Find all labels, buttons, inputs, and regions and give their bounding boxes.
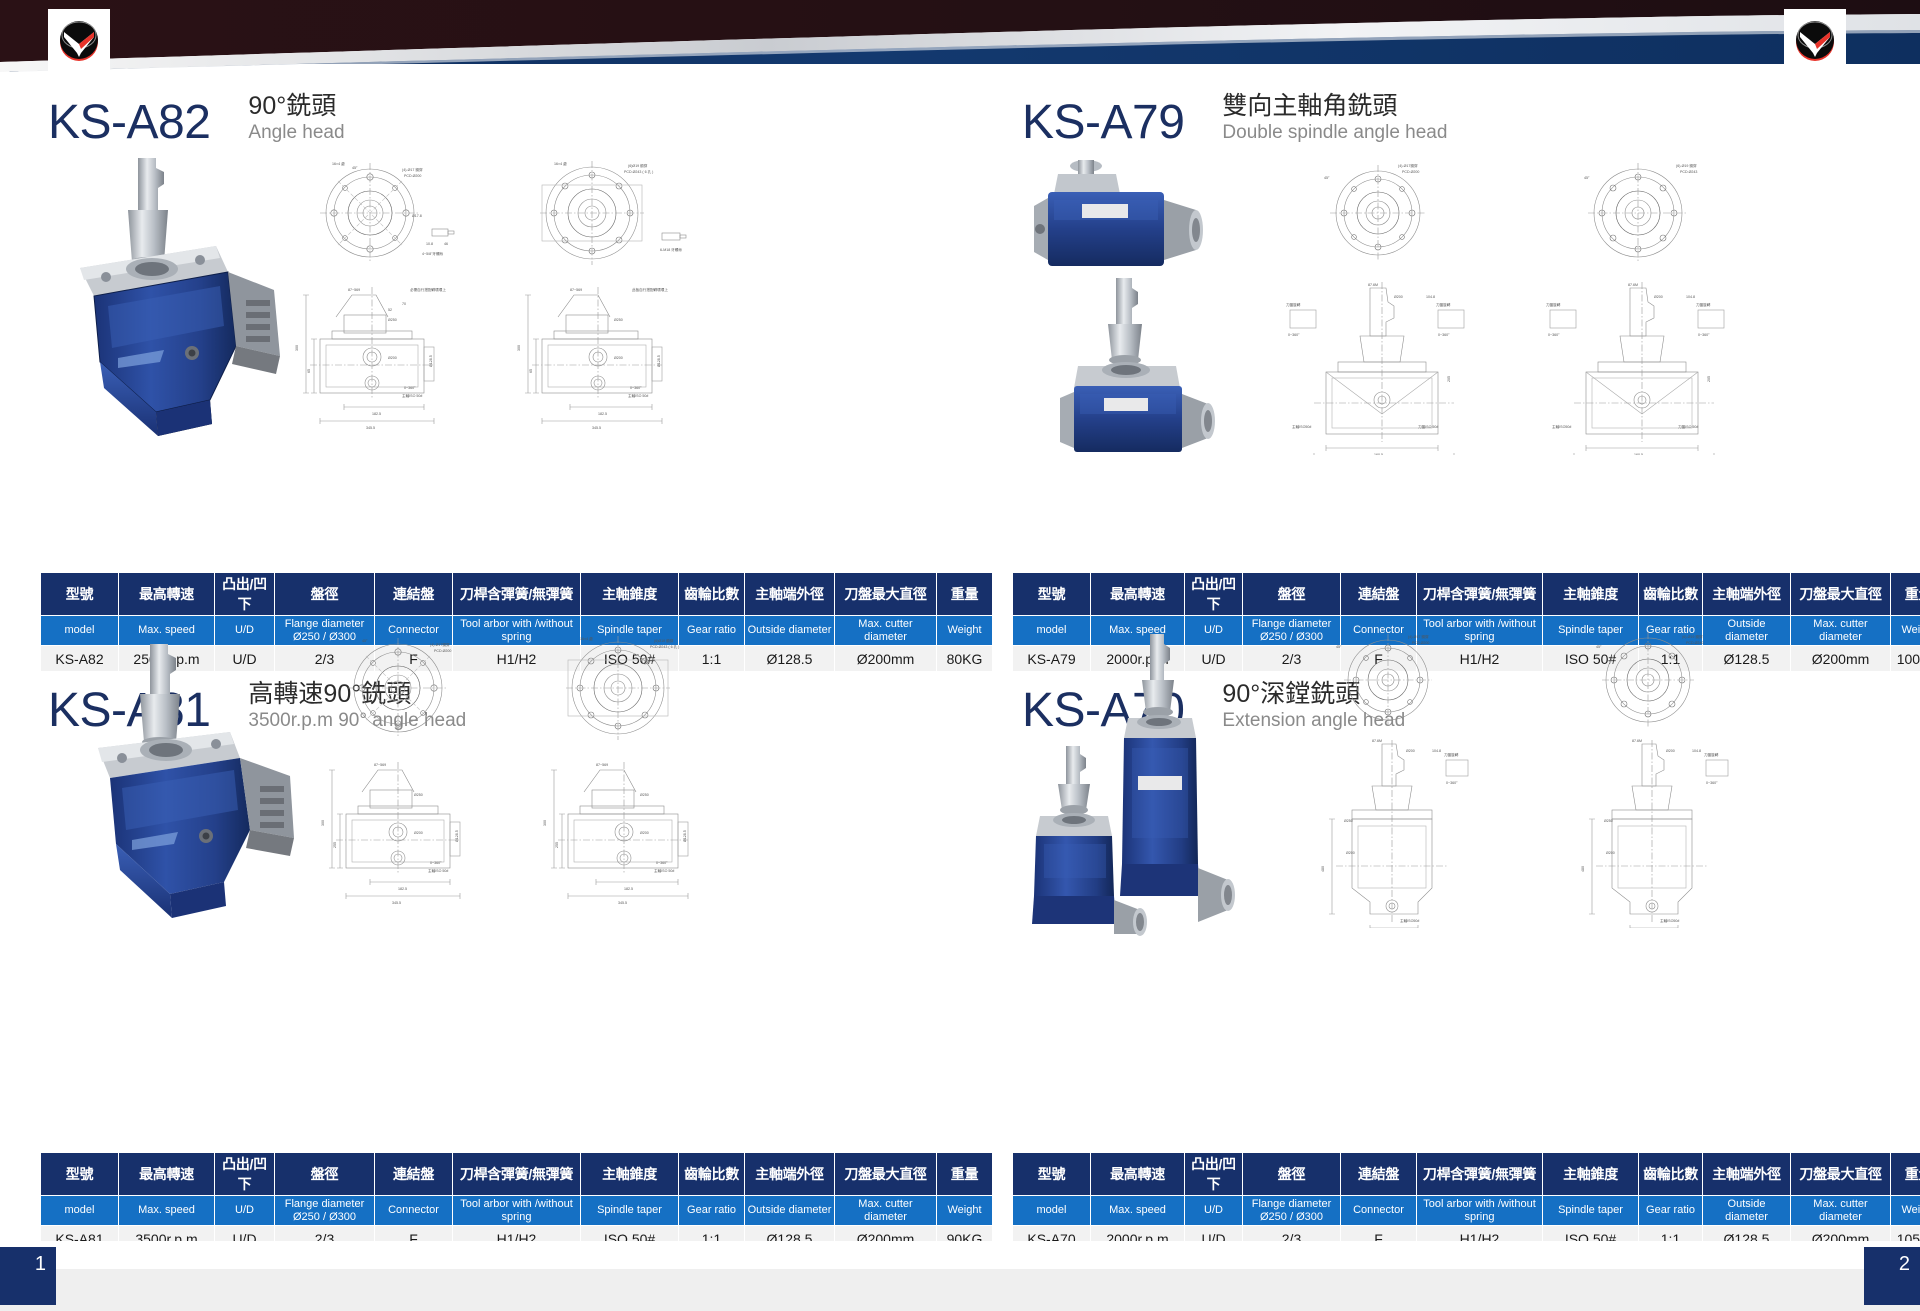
product-photo-ks-a81 — [78, 630, 308, 930]
svg-text:此板自行搭配轉環環上: 此板自行搭配轉環環上 — [632, 287, 668, 292]
svg-text:16×4 處: 16×4 處 — [554, 161, 567, 166]
svg-text:6-M18 牙螺絲: 6-M18 牙螺絲 — [660, 247, 682, 252]
th-cn-connector: 連結盤 — [1341, 1153, 1417, 1196]
th-cn-gear-ratio: 齒輪比數 — [679, 1153, 745, 1196]
svg-text:主軸ISO 50#: 主軸ISO 50# — [628, 393, 648, 398]
svg-text:87.6M: 87.6M — [1632, 739, 1642, 743]
th-en-flange-diameter: Flange diameter Ø250 / Ø300 — [1243, 1196, 1341, 1226]
technical-drawing-ks-a79: (4)-Ø17鑽穿 PCD.Ø200 45° (6)-Ø19 鑽穿 PCD.Ø2… — [1268, 155, 1913, 455]
th-en-model: model — [1013, 1196, 1091, 1226]
product-block-ks-a79: KS-A79 雙向主軸角銑頭 Double spindle angle head — [1022, 92, 1902, 147]
th-cn-max-speed: 最高轉速 — [1091, 573, 1185, 616]
th-en-connector: Connector — [375, 1196, 453, 1226]
table-header-row-cn: 型號 最高轉速 凸出/凹下 盤徑 連結盤 刀桿含彈簧/無彈簧 主軸錐度 齒輪比數… — [41, 1153, 993, 1196]
svg-text:104.8: 104.8 — [1432, 749, 1441, 753]
svg-text:65: 65 — [307, 369, 311, 373]
th-cn-outside-diameter: 主軸端外徑 — [1703, 573, 1791, 616]
th-cn-ud: 凸出/凹下 — [215, 1153, 275, 1196]
th-cn-flange-diameter: 盤徑 — [1243, 573, 1341, 616]
svg-text:45°: 45° — [1584, 176, 1590, 180]
technical-drawing-ks-a70: (4)-Ø17 鑽穿 PCD.Ø200 45° (6)-Ø19 鑽穿 PCD.Ø… — [1278, 628, 1918, 928]
svg-text:Ø200: Ø200 — [640, 831, 649, 835]
th-cn-outside-diameter: 主軸端外徑 — [745, 1153, 835, 1196]
th-cn-spindle-taper: 主軸錐度 — [581, 573, 679, 616]
svg-text:205: 205 — [1447, 376, 1451, 382]
svg-text:0~360°: 0~360° — [656, 861, 668, 865]
svg-text:87.6M: 87.6M — [1368, 283, 1378, 287]
svg-text:Ø200: Ø200 — [388, 356, 397, 360]
svg-text:0~360°: 0~360° — [630, 386, 642, 390]
svg-text:205: 205 — [1707, 376, 1711, 382]
svg-text:Ø250: Ø250 — [414, 793, 423, 797]
th-en-max-cutter-diameter: Max. cutter diameter — [1791, 1196, 1891, 1226]
product-title-en: Angle head — [248, 122, 344, 145]
svg-text:刀盤旋轉: 刀盤旋轉 — [1436, 302, 1451, 307]
spec-table-ks-a81: 型號 最高轉速 凸出/凹下 盤徑 連結盤 刀桿含彈簧/無彈簧 主軸錐度 齒輪比數… — [40, 1152, 993, 1252]
th-cn-model: 型號 — [41, 1153, 119, 1196]
th-cn-gear-ratio: 齒輪比數 — [679, 573, 745, 616]
svg-text:Ø200: Ø200 — [414, 831, 423, 835]
svg-text:(4)-Ø17 鑽穿: (4)-Ø17 鑽穿 — [1408, 634, 1429, 639]
th-cn-ud: 凸出/凹下 — [215, 573, 275, 616]
svg-text:65: 65 — [529, 369, 533, 373]
svg-text:(6)Ø19 鑽穿: (6)Ø19 鑽穿 — [654, 638, 674, 643]
svg-text:刀盤旋轉: 刀盤旋轉 — [1286, 302, 1301, 307]
svg-text:255: 255 — [333, 842, 337, 848]
svg-text:104.8: 104.8 — [1426, 295, 1435, 299]
technical-drawing-ks-a82: 16×4 處 (4)-Ø17 鑽穿 PCD.Ø200 45° 10.8 46 4… — [292, 155, 742, 455]
svg-text:0~360°: 0~360° — [1446, 781, 1458, 785]
svg-text:182.5: 182.5 — [624, 887, 633, 891]
svg-text:87.6M: 87.6M — [1628, 283, 1638, 287]
table-header-row-cn: 型號 最高轉速 凸出/凹下 盤徑 連結盤 刀桿含彈簧/無彈簧 主軸錐度 齒輪比數… — [1013, 573, 1920, 616]
th-cn-tool-arbor: 刀桿含彈簧/無彈簧 — [453, 573, 581, 616]
th-cn-ud: 凸出/凹下 — [1185, 573, 1243, 616]
svg-text:345.5: 345.5 — [618, 901, 627, 905]
th-cn-connector: 連結盤 — [1341, 573, 1417, 616]
th-cn-max-cutter-diameter: 刀盤最大直徑 — [1791, 573, 1891, 616]
svg-text:10.8: 10.8 — [426, 242, 433, 246]
th-en-max-cutter-diameter: Max. cutter diameter — [835, 616, 937, 646]
svg-text:Ø200: Ø200 — [1666, 749, 1675, 753]
svg-text:0~360°: 0~360° — [430, 861, 442, 865]
catalog-page: KS-A82 90°銑頭 Angle head — [0, 0, 1920, 1311]
th-en-tool-arbor: Tool arbor with /without spring — [453, 1196, 581, 1226]
svg-text:Ø128.5: Ø128.5 — [455, 830, 459, 842]
th-cn-gear-ratio: 齒輪比數 — [1639, 1153, 1703, 1196]
svg-text:Ø250: Ø250 — [640, 793, 649, 797]
svg-text:Ø250: Ø250 — [1604, 819, 1613, 823]
product-title-cn: 90°銑頭 — [248, 92, 344, 121]
th-en-max-speed: Max. speed — [1091, 1196, 1185, 1226]
svg-text:104.8: 104.8 — [1686, 295, 1695, 299]
table-header-row-cn: 型號 最高轉速 凸出/凹下 盤徑 連結盤 刀桿含彈簧/無彈簧 主軸錐度 齒輪比數… — [1013, 1153, 1920, 1196]
svg-text:PCD.Ø243 ( 6 孔 ): PCD.Ø243 ( 6 孔 ) — [624, 169, 653, 174]
product-photo-ks-a70 — [1020, 628, 1260, 938]
svg-text:160.5: 160.5 — [1374, 453, 1383, 455]
footer-white-gap — [0, 1241, 1920, 1269]
svg-text:Ø128.5: Ø128.5 — [657, 355, 661, 367]
th-en-spindle-taper: Spindle taper — [1543, 1196, 1639, 1226]
th-en-gear-ratio: Gear ratio — [1639, 1196, 1703, 1226]
th-cn-spindle-taper: 主軸錐度 — [1543, 1153, 1639, 1196]
svg-text:300: 300 — [517, 345, 521, 351]
svg-text:0~360°: 0~360° — [404, 386, 416, 390]
company-logo — [1784, 9, 1846, 71]
svg-text:0~360°: 0~360° — [1548, 333, 1560, 337]
table-header-row-en: model Max. speed U/D Flange diameter Ø25… — [41, 1196, 993, 1226]
table-header-row-cn: 型號 最高轉速 凸出/凹下 盤徑 連結盤 刀桿含彈簧/無彈簧 主軸錐度 齒輪比數… — [41, 573, 993, 616]
th-cn-flange-diameter: 盤徑 — [275, 1153, 375, 1196]
th-cn-tool-arbor: 刀桿含彈簧/無彈簧 — [453, 1153, 581, 1196]
svg-text:52: 52 — [388, 308, 392, 312]
th-en-gear-ratio: Gear ratio — [679, 1196, 745, 1226]
th-cn-outside-diameter: 主軸端外徑 — [1703, 1153, 1791, 1196]
svg-text:Ø200: Ø200 — [1606, 851, 1615, 855]
page-number-left: 1 — [0, 1247, 56, 1305]
svg-text:主軸ISO 50#: 主軸ISO 50# — [428, 868, 448, 873]
th-cn-tool-arbor: 刀桿含彈簧/無彈簧 — [1417, 1153, 1543, 1196]
svg-text:Ø128.5: Ø128.5 — [429, 355, 433, 367]
svg-text:87~569: 87~569 — [374, 763, 386, 767]
th-cn-tool-arbor: 刀桿含彈簧/無彈簧 — [1417, 573, 1543, 616]
logo-icon — [1788, 13, 1842, 67]
cell-max-cutter-diameter: Ø200mm — [835, 646, 937, 672]
svg-text:主軸ISO50#: 主軸ISO50# — [1660, 918, 1679, 923]
th-en-connector: Connector — [1341, 1196, 1417, 1226]
svg-text:16×4 處: 16×4 處 — [332, 161, 345, 166]
svg-text:45°: 45° — [1336, 645, 1342, 649]
th-cn-weight: 重量 — [937, 1153, 993, 1196]
th-en-ud: U/D — [215, 1196, 275, 1226]
svg-text:87~569: 87~569 — [570, 288, 582, 292]
th-cn-spindle-taper: 主軸錐度 — [1543, 573, 1639, 616]
svg-text:PCD.Ø243: PCD.Ø243 — [1680, 170, 1697, 174]
svg-text:182.5: 182.5 — [372, 412, 381, 416]
th-en-outside-diameter: Outside diameter — [1703, 1196, 1791, 1226]
product-title-en: Double spindle angle head — [1222, 122, 1447, 145]
svg-text:PCD.Ø200: PCD.Ø200 — [1402, 170, 1419, 174]
svg-text:刀盤旋轉: 刀盤旋轉 — [1696, 302, 1711, 307]
svg-text:(4)-Ø17鑽穿: (4)-Ø17鑽穿 — [430, 642, 450, 647]
product-photo-ks-a79 — [1020, 148, 1250, 458]
product-title-cn: 雙向主軸角銑頭 — [1222, 92, 1447, 121]
svg-text:刀盤旋轉: 刀盤旋轉 — [1546, 302, 1561, 307]
th-cn-weight: 重量 — [1891, 573, 1920, 616]
svg-text:345.5: 345.5 — [366, 426, 375, 430]
svg-text:Ø128.5: Ø128.5 — [683, 830, 687, 842]
svg-text:300: 300 — [295, 345, 299, 351]
th-en-spindle-taper: Spindle taper — [581, 1196, 679, 1226]
svg-text:(6)-Ø19 鑽穿: (6)-Ø19 鑽穿 — [1682, 634, 1703, 639]
svg-text:345.5: 345.5 — [592, 426, 601, 430]
page-number-right: 2 — [1864, 1247, 1920, 1305]
th-en-weight: Weight — [937, 616, 993, 646]
product-model-code: KS-A82 — [48, 99, 210, 147]
svg-text:480: 480 — [1321, 866, 1325, 872]
th-cn-max-cutter-diameter: 刀盤最大直徑 — [1791, 1153, 1891, 1196]
svg-text:主軸ISO 50#: 主軸ISO 50# — [654, 868, 674, 873]
svg-text:70: 70 — [402, 302, 406, 306]
svg-text:0~360°: 0~360° — [1438, 333, 1450, 337]
cell-weight: 80KG — [937, 646, 993, 672]
th-cn-outside-diameter: 主軸端外徑 — [745, 573, 835, 616]
th-cn-model: 型號 — [1013, 1153, 1091, 1196]
svg-text:Ø250: Ø250 — [1344, 819, 1353, 823]
svg-text:(6)-Ø19 鑽穿: (6)-Ø19 鑽穿 — [1676, 163, 1697, 168]
svg-text:(4)-Ø17鑽穿: (4)-Ø17鑽穿 — [1398, 163, 1418, 168]
svg-text:45°: 45° — [362, 639, 368, 643]
th-cn-gear-ratio: 齒輪比數 — [1639, 573, 1703, 616]
th-cn-weight: 重量 — [937, 573, 993, 616]
svg-text:刀盤ISO 50#: 刀盤ISO 50# — [1418, 424, 1438, 429]
svg-text:PCD.Ø240: PCD.Ø240 — [1686, 641, 1703, 645]
table-header-row-en: model Max. speed U/D Flange diameter Ø25… — [1013, 1196, 1920, 1226]
th-cn-flange-diameter: 盤徑 — [275, 573, 375, 616]
svg-text:160.5: 160.5 — [1634, 453, 1643, 455]
th-cn-model: 型號 — [41, 573, 119, 616]
th-cn-model: 型號 — [1013, 573, 1091, 616]
svg-text:182.5: 182.5 — [398, 887, 407, 891]
svg-text:主軸ISO50#: 主軸ISO50# — [1292, 424, 1311, 429]
th-cn-max-speed: 最高轉速 — [1091, 1153, 1185, 1196]
svg-text:45°: 45° — [1324, 176, 1330, 180]
svg-text:182.5: 182.5 — [598, 412, 607, 416]
svg-text:PCD.Ø200: PCD.Ø200 — [404, 174, 421, 178]
th-en-flange-diameter: Flange diameter Ø250 / Ø300 — [275, 1196, 375, 1226]
svg-text:刀盤ISO 50#: 刀盤ISO 50# — [1678, 424, 1698, 429]
svg-text:必需自行搭配轉環環上: 必需自行搭配轉環環上 — [410, 287, 446, 292]
th-en-model: model — [41, 1196, 119, 1226]
th-cn-max-speed: 最高轉速 — [119, 573, 215, 616]
th-cn-spindle-taper: 主軸錐度 — [581, 1153, 679, 1196]
svg-text:Ø250: Ø250 — [614, 318, 623, 322]
svg-text:87~569: 87~569 — [348, 288, 360, 292]
svg-text:87~569: 87~569 — [596, 763, 608, 767]
svg-text:(4)-Ø17 鑽穿: (4)-Ø17 鑽穿 — [402, 167, 423, 172]
th-cn-max-cutter-diameter: 刀盤最大直徑 — [835, 1153, 937, 1196]
svg-text:Ø200: Ø200 — [1654, 295, 1663, 299]
svg-text:16×4 處: 16×4 處 — [580, 636, 593, 641]
product-photo-ks-a82 — [60, 150, 290, 450]
svg-text:480: 480 — [1581, 866, 1585, 872]
svg-text:45°: 45° — [1596, 645, 1602, 649]
svg-text:Ø200: Ø200 — [1394, 295, 1403, 299]
svg-text:PCD.Ø200: PCD.Ø200 — [434, 649, 451, 653]
svg-text:345.5: 345.5 — [392, 901, 401, 905]
svg-text:104.8: 104.8 — [1692, 749, 1701, 753]
svg-text:Ø200: Ø200 — [1406, 749, 1415, 753]
svg-text:4~5/8"牙螺絲: 4~5/8"牙螺絲 — [422, 251, 444, 256]
svg-text:0~360°: 0~360° — [1288, 333, 1300, 337]
th-cn-weight: 重量 — [1891, 1153, 1920, 1196]
th-cn-connector: 連結盤 — [375, 573, 453, 616]
product-title-row: KS-A79 雙向主軸角銑頭 Double spindle angle head — [1022, 92, 1902, 147]
th-en-weight: Weight — [1891, 1196, 1920, 1226]
svg-text:主軸ISO 50#: 主軸ISO 50# — [402, 393, 422, 398]
svg-text:PCD.Ø200: PCD.Ø200 — [1412, 641, 1429, 645]
svg-text:255: 255 — [555, 842, 559, 848]
svg-text:300: 300 — [543, 820, 547, 826]
th-cn-max-speed: 最高轉速 — [119, 1153, 215, 1196]
svg-text:主軸ISO50#: 主軸ISO50# — [1400, 918, 1419, 923]
th-en-tool-arbor: Tool arbor with /without spring — [1417, 1196, 1543, 1226]
svg-text:0~360°: 0~360° — [1706, 781, 1718, 785]
svg-text:Ø200: Ø200 — [1346, 851, 1355, 855]
svg-text:(6)Ø19 鑽穿: (6)Ø19 鑽穿 — [628, 163, 648, 168]
th-cn-ud: 凸出/凹下 — [1185, 1153, 1243, 1196]
th-en-max-cutter-diameter: Max. cutter diameter — [835, 1196, 937, 1226]
spec-table-ks-a70: 型號 最高轉速 凸出/凹下 盤徑 連結盤 刀桿含彈簧/無彈簧 主軸錐度 齒輪比數… — [1012, 1152, 1920, 1252]
svg-text:87.6M: 87.6M — [1372, 739, 1382, 743]
svg-text:PCD.Ø243 ( 6 孔 ): PCD.Ø243 ( 6 孔 ) — [650, 644, 679, 649]
svg-text:Ø200: Ø200 — [614, 356, 623, 360]
th-en-max-speed: Max. speed — [119, 1196, 215, 1226]
th-en-ud: U/D — [1185, 1196, 1243, 1226]
svg-text:0~360°: 0~360° — [1698, 333, 1710, 337]
footer-bar — [0, 1269, 1920, 1311]
technical-drawing-ks-a81: 45° (4)-Ø17鑽穿 PCD.Ø200 16×4 處 (6)Ø19 鑽穿 … — [318, 630, 768, 930]
svg-text:主軸ISO50#: 主軸ISO50# — [1552, 424, 1571, 429]
svg-text:刀盤旋轉: 刀盤旋轉 — [1444, 752, 1459, 757]
page-header-banner — [0, 0, 1920, 78]
th-cn-max-cutter-diameter: 刀盤最大直徑 — [835, 573, 937, 616]
th-en-outside-diameter: Outside diameter — [745, 1196, 835, 1226]
svg-text:刀盤旋轉: 刀盤旋轉 — [1704, 752, 1719, 757]
svg-text:300: 300 — [321, 820, 325, 826]
svg-text:45°: 45° — [352, 166, 358, 170]
logo-icon — [52, 13, 106, 67]
svg-text:46: 46 — [444, 242, 448, 246]
th-cn-connector: 連結盤 — [375, 1153, 453, 1196]
svg-text:Ø250: Ø250 — [388, 318, 397, 322]
product-model-code: KS-A79 — [1022, 99, 1184, 147]
company-logo — [48, 9, 110, 71]
svg-text:Ø17.8: Ø17.8 — [412, 214, 422, 218]
product-title-row: KS-A82 90°銑頭 Angle head — [48, 92, 948, 147]
th-cn-flange-diameter: 盤徑 — [1243, 1153, 1341, 1196]
th-en-weight: Weight — [937, 1196, 993, 1226]
product-block-ks-a82: KS-A82 90°銑頭 Angle head — [48, 92, 948, 147]
